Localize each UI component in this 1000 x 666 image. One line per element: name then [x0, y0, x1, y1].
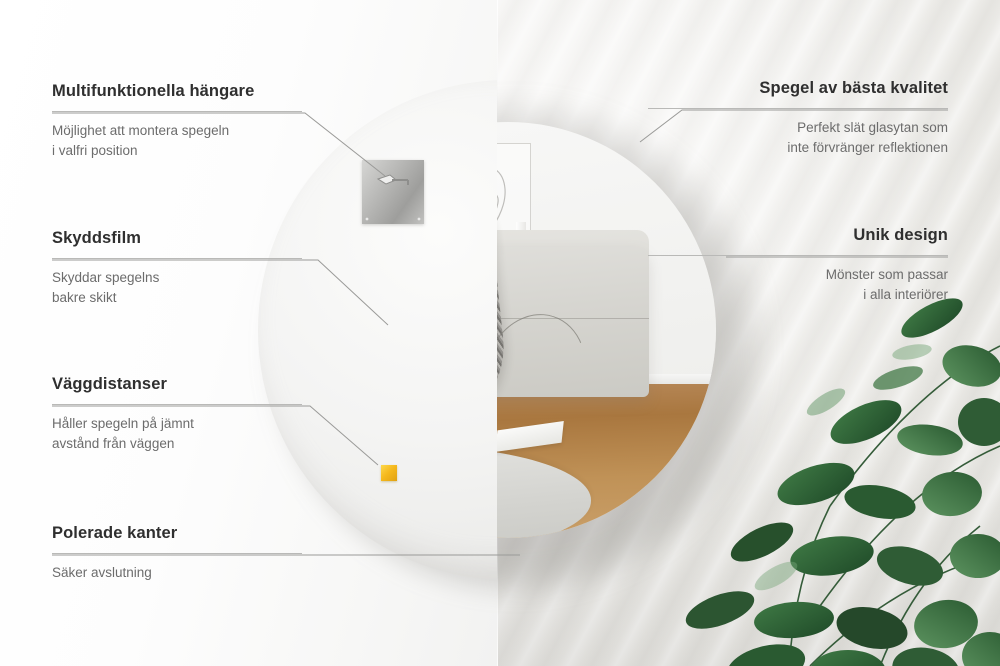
callout-desc: Möjlighet att montera spegeln i valfri p… — [52, 121, 302, 162]
callout-title: Unik design — [648, 226, 948, 246]
callout-rule — [648, 108, 948, 109]
callout-rule — [52, 553, 302, 554]
callout-rule — [52, 258, 302, 259]
callout-unique-design: Unik design Mönster som passar i alla in… — [648, 226, 948, 305]
callout-rule — [52, 404, 302, 405]
hanger-plate — [362, 160, 424, 224]
callout-polished-edges: Polerade kanter Säker avslutning — [52, 524, 302, 583]
callout-hangers: Multifunktionella hängare Möjlighet att … — [52, 82, 302, 161]
callout-rule — [52, 111, 302, 112]
callout-wall-spacers: Väggdistanser Håller spegeln på jämnt av… — [52, 375, 302, 454]
infographic-canvas: Multifunktionella hängare Möjlighet att … — [0, 0, 1000, 666]
callout-protective-film: Skyddsfilm Skyddar spegelns bakre skikt — [52, 229, 302, 308]
callout-title: Spegel av bästa kvalitet — [648, 79, 948, 99]
callout-best-quality-mirror: Spegel av bästa kvalitet Perfekt slät gl… — [648, 79, 948, 158]
callout-title: Polerade kanter — [52, 524, 302, 544]
callout-title: Multifunktionella hängare — [52, 82, 302, 102]
callout-desc: Mönster som passar i alla interiörer — [648, 265, 948, 306]
callout-rule — [648, 255, 948, 256]
callout-title: Väggdistanser — [52, 375, 302, 395]
callout-desc: Perfekt slät glasytan som inte förvränge… — [648, 118, 948, 159]
wall-spacer — [381, 465, 397, 481]
callout-title: Skyddsfilm — [52, 229, 302, 249]
callout-desc: Skyddar spegelns bakre skikt — [52, 268, 302, 309]
callout-desc: Säker avslutning — [52, 563, 302, 583]
callout-desc: Håller spegeln på jämnt avstånd från väg… — [52, 414, 302, 455]
